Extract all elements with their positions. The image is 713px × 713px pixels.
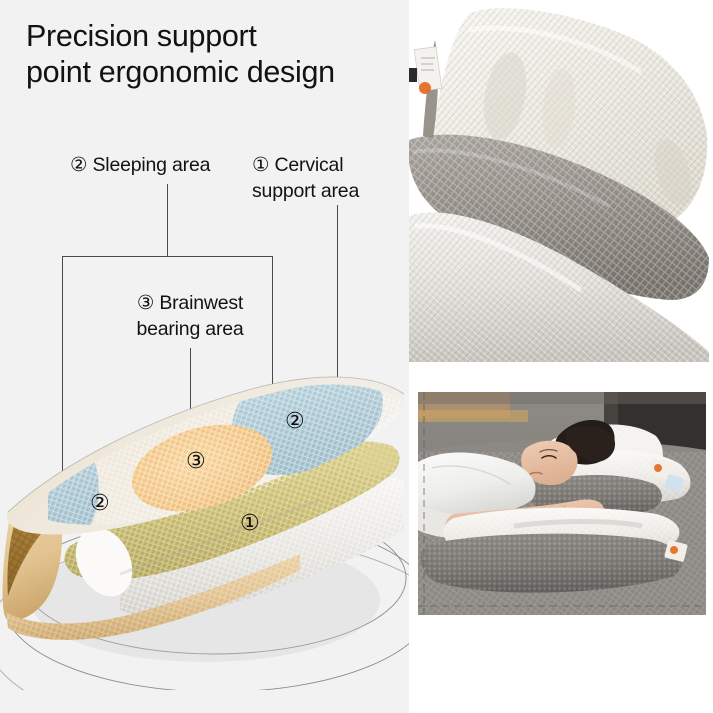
diagram-marker-sleeping-right: ② [285, 408, 305, 434]
callout-label-sleeping-area: ② Sleeping area [70, 152, 210, 178]
lifestyle-sleeping-photo [418, 392, 706, 615]
leader-line-sleeping-stem [167, 184, 168, 257]
diagram-marker-brainwest: ③ [186, 448, 206, 474]
leader-line-sleeping-bracket [62, 256, 273, 257]
page-title: Precision support point ergonomic design [26, 18, 426, 90]
pillow-diagram [0, 360, 409, 690]
diagram-marker-sleeping-left: ② [90, 490, 110, 516]
product-stack-photo [409, 0, 713, 362]
callout-label-cervical-support-area: ① Cervical support area [252, 152, 359, 204]
diagram-marker-cervical: ① [240, 510, 260, 536]
callout-label-brainwest-bearing-area: ③ Brainwest bearing area [105, 290, 275, 342]
infographic-root: Precision support point ergonomic design… [0, 0, 713, 713]
